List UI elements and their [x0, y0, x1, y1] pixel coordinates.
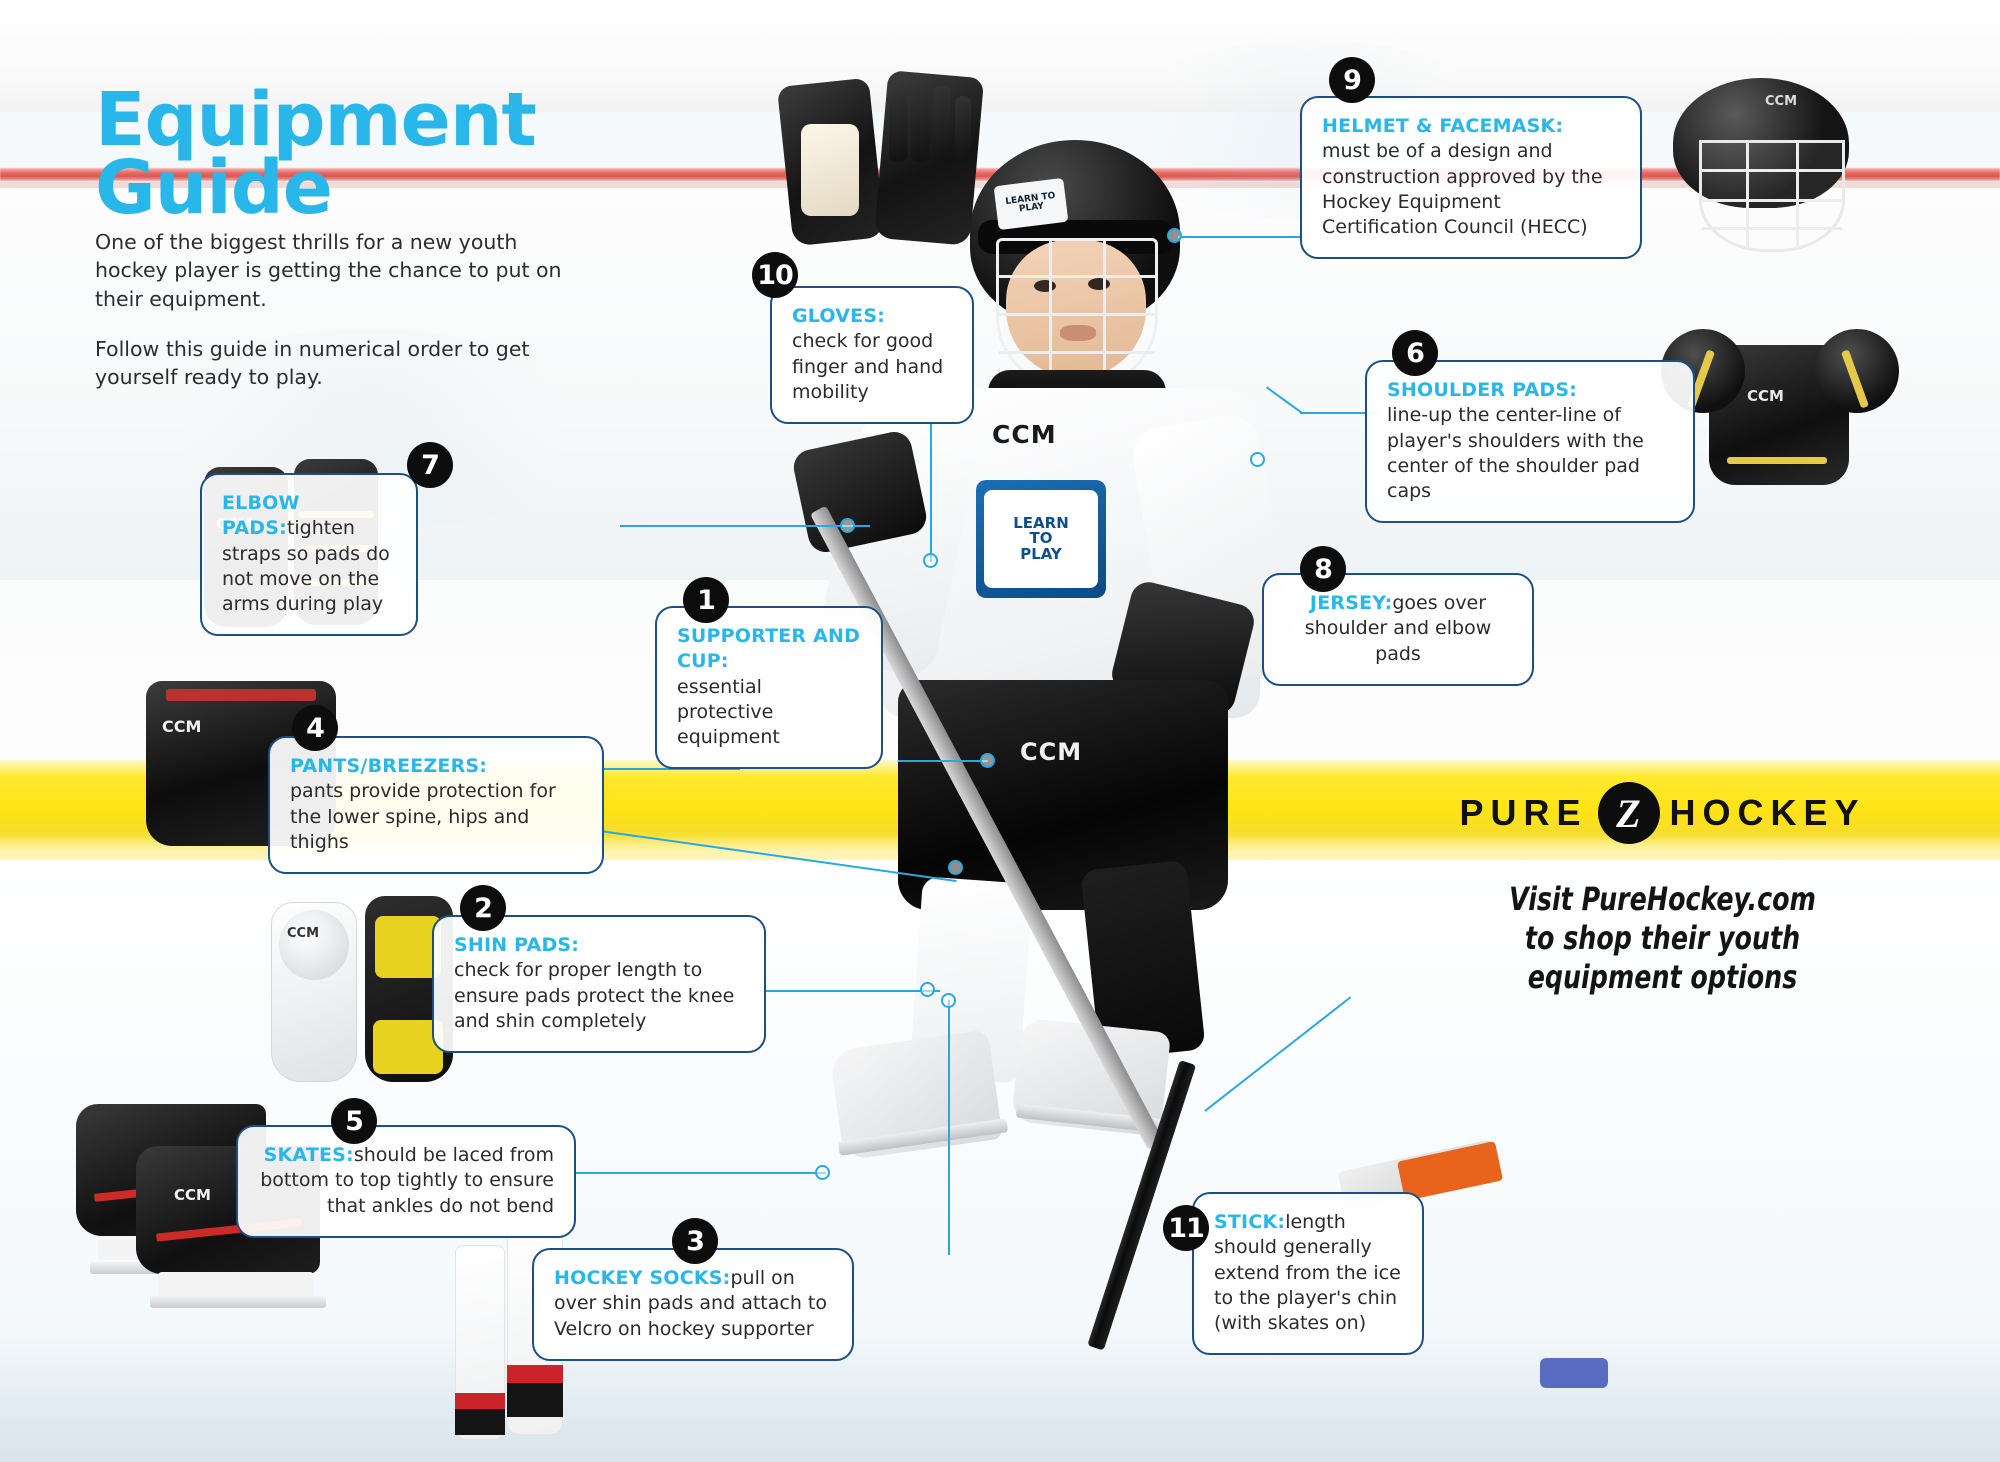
- connector-5: [576, 1172, 826, 1174]
- connector-2: [760, 990, 940, 992]
- visit-callout[interactable]: Visit PureHockey.com to shop their youth…: [1480, 880, 1845, 997]
- visit-line-3: equipment options: [1480, 958, 1845, 997]
- callout-supporter-cup-heading: SUPPORTER AND CUP:: [677, 625, 860, 672]
- callout-skates-heading: SKATES:: [264, 1144, 354, 1166]
- page-title-line2: Guide: [95, 154, 536, 222]
- callout-stick[interactable]: STICK:length should generally extend fro…: [1192, 1192, 1424, 1355]
- connector-3: [948, 1000, 950, 1255]
- connector-9: [1178, 236, 1304, 238]
- jersey-crest-text: LEARNTOPLAY: [984, 490, 1098, 588]
- connector-dot-3: [941, 993, 956, 1008]
- callout-shin-pads[interactable]: SHIN PADS: check for proper length to en…: [432, 915, 766, 1053]
- connector-dot-1: [980, 753, 995, 768]
- callout-pants-heading: PANTS/BREEZERS:: [290, 755, 487, 777]
- callout-supporter-cup[interactable]: SUPPORTER AND CUP: essential protective …: [655, 606, 883, 769]
- badge-6: 6: [1392, 330, 1438, 376]
- facemask-cage: [996, 238, 1158, 390]
- connector-dot-2: [920, 982, 935, 997]
- callout-skates[interactable]: SKATES:should be laced from bottom to to…: [236, 1125, 576, 1238]
- pure-hockey-logo[interactable]: PURE Z HOCKEY: [1455, 782, 1870, 844]
- callout-shin-pads-body: check for proper length to ensure pads p…: [454, 958, 744, 1034]
- visit-line-1: Visit PureHockey.com: [1480, 880, 1845, 919]
- callout-supporter-cup-body: essential protective equipment: [677, 675, 861, 751]
- badge-7: 7: [407, 442, 453, 488]
- gloves-photo: [785, 70, 985, 260]
- callout-pants-body: pants provide protection for the lower s…: [290, 779, 582, 855]
- callout-jersey-heading: JERSEY:: [1310, 592, 1392, 614]
- callout-helmet[interactable]: HELMET & FACEMASK: must be of a design a…: [1300, 96, 1642, 259]
- badge-3: 3: [672, 1218, 718, 1264]
- callout-elbow-pads[interactable]: ELBOW PADS:tighten straps so pads do not…: [200, 473, 418, 636]
- connector-7: [620, 525, 870, 527]
- callout-pants[interactable]: PANTS/BREEZERS: pants provide protection…: [268, 736, 604, 874]
- callout-helmet-heading: HELMET & FACEMASK:: [1322, 115, 1563, 137]
- badge-4: 4: [292, 705, 338, 751]
- callout-gloves-heading: GLOVES:: [792, 305, 885, 327]
- badge-8: 8: [1300, 546, 1346, 592]
- infographic-canvas: LEARN TO PLAY CCM LEARNTOPLAY CCM: [0, 0, 2000, 1462]
- pants-ccm-logo: CCM: [1020, 738, 1082, 766]
- connector-dot-10: [923, 553, 938, 568]
- logo-z-mark: Z: [1598, 782, 1660, 844]
- intro-paragraph-2: Follow this guide in numerical order to …: [95, 335, 565, 392]
- badge-5: 5: [331, 1098, 377, 1144]
- callout-jersey[interactable]: JERSEY:goes over shoulder and elbow pads: [1262, 573, 1534, 686]
- learn-to-play-sticker: LEARN TO PLAY: [994, 178, 1069, 230]
- hockey-puck: [1540, 1358, 1608, 1388]
- callout-gloves[interactable]: GLOVES: check for good finger and hand m…: [770, 286, 974, 424]
- callout-hockey-socks-heading: HOCKEY SOCKS:: [554, 1267, 730, 1289]
- badge-1: 1: [683, 577, 729, 623]
- page-title: Equipment Guide: [95, 86, 536, 222]
- helmet-photo: CCM: [1655, 78, 1875, 268]
- callout-gloves-body: check for good finger and hand mobility: [792, 329, 952, 405]
- badge-2: 2: [460, 885, 506, 931]
- callout-shoulder-pads-heading: SHOULDER PADS:: [1387, 379, 1577, 401]
- intro-paragraph-1: One of the biggest thrills for a new you…: [95, 228, 565, 313]
- badge-9: 9: [1329, 57, 1375, 103]
- connector-dot-5: [815, 1165, 830, 1180]
- callout-shoulder-pads-body: line-up the center-line of player's shou…: [1387, 403, 1673, 504]
- callout-shin-pads-heading: SHIN PADS:: [454, 934, 579, 956]
- jersey-ccm-logo: CCM: [992, 420, 1057, 449]
- callout-stick-heading: STICK:: [1214, 1211, 1285, 1233]
- connector-dot-7: [840, 518, 855, 533]
- helmet-photo-brand: CCM: [1765, 94, 1797, 109]
- visit-line-2: to shop their youth: [1480, 919, 1845, 958]
- badge-11: 11: [1163, 1205, 1209, 1251]
- intro-text: One of the biggest thrills for a new you…: [95, 228, 565, 391]
- connector-dot-9: [1167, 228, 1182, 243]
- callout-shoulder-pads[interactable]: SHOULDER PADS: line-up the center-line o…: [1365, 360, 1695, 523]
- logo-word-hockey: HOCKEY: [1670, 792, 1866, 834]
- rink-ice-shadow: [0, 1332, 2000, 1462]
- connector-dot-4: [948, 860, 963, 875]
- badge-10: 10: [752, 252, 798, 298]
- callout-hockey-socks[interactable]: HOCKEY SOCKS:pull on over shin pads and …: [532, 1248, 854, 1361]
- connector-1: [898, 760, 988, 762]
- callout-helmet-body: must be of a design and construction app…: [1322, 139, 1620, 240]
- connector-dot-6: [1250, 452, 1265, 467]
- logo-word-pure: PURE: [1459, 792, 1587, 834]
- connector-10: [930, 422, 932, 562]
